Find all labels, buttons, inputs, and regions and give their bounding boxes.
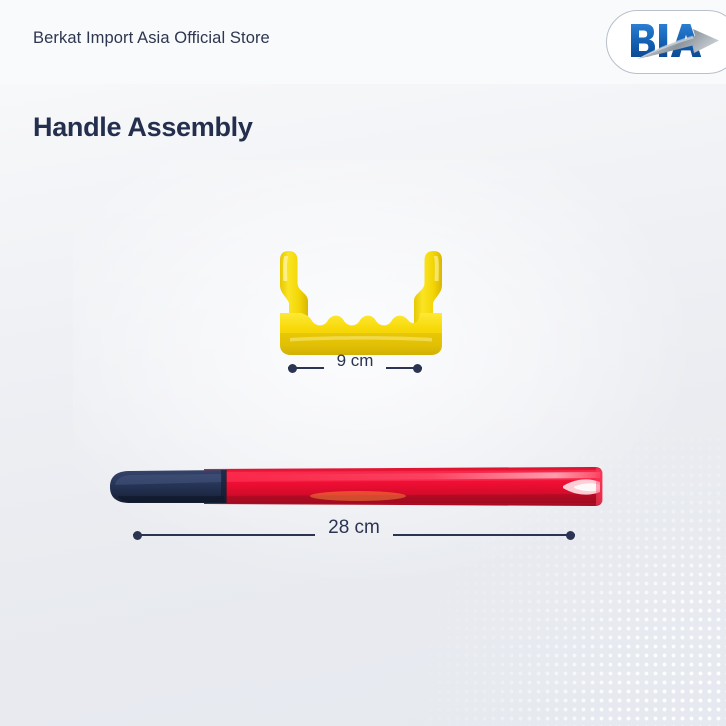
bracket-body bbox=[280, 251, 442, 355]
dimension-line-right bbox=[393, 531, 575, 540]
product-image-yellow-handle-bracket bbox=[266, 241, 456, 361]
bia-logo bbox=[606, 10, 726, 74]
rod-body bbox=[110, 467, 603, 506]
dimension-line-left bbox=[133, 531, 315, 540]
dimension-line-left bbox=[288, 364, 324, 373]
dimension-value-bracket: 9 cm bbox=[324, 351, 387, 371]
page-title: Handle Assembly bbox=[33, 112, 253, 143]
product-image-red-handle-rod bbox=[108, 458, 608, 516]
dimension-value-rod: 28 cm bbox=[315, 517, 393, 539]
product-image-canvas: Berkat Import Asia Official Store bbox=[0, 0, 726, 726]
header-bar: Berkat Import Asia Official Store bbox=[0, 0, 726, 84]
dimension-rod: 28 cm bbox=[133, 524, 575, 546]
store-name: Berkat Import Asia Official Store bbox=[33, 29, 270, 48]
dimension-line-right bbox=[386, 364, 422, 373]
dimension-bracket: 9 cm bbox=[288, 358, 422, 378]
